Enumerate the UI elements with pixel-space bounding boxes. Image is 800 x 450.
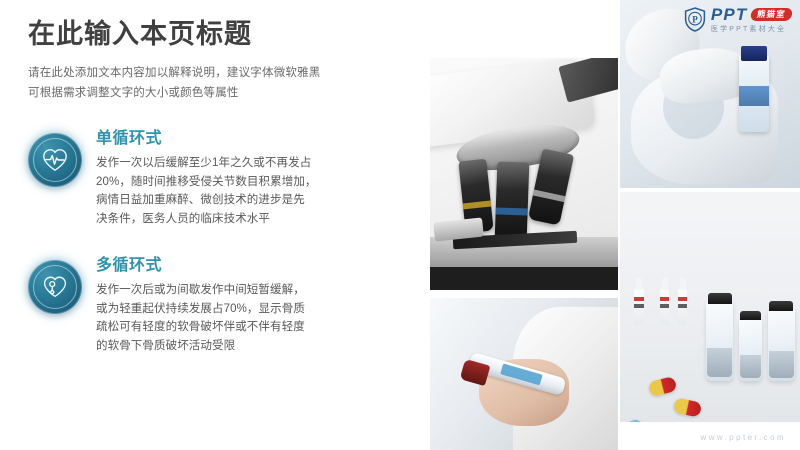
subtitle-line-2: 可根据需求调整文字的大小或颜色等属性 [28,83,398,103]
logo-brand: PPT [711,6,748,23]
svg-text:P: P [692,14,698,24]
logo-tag: 熊猫室 [750,8,793,21]
subtitle-line-1: 请在此处添加文本内容加以解释说明，建议字体微软雅黑 [28,63,398,83]
bullet-item-2[interactable]: 多循环式 发作一次后或为间歇发作中间短暂缓解， 或为轻重起伏持续发展占70%，显… [28,256,398,356]
text-column: 在此输入本页标题 请在此处添加文本内容加以解释说明，建议字体微软雅黑 可根据需求… [0,0,420,450]
logo-subtitle: 医学PPT素材大全 [711,26,792,33]
bullet-2-line-3: 疏松可有轻度的软骨破坏伴或不伴有轻度 [96,318,305,337]
heart-stethoscope-icon [42,274,68,300]
test-tube-photo [430,298,618,450]
bullet-badge-2 [28,260,82,314]
bullet-1-line-1: 发作一次以后缓解至少1年之久或不再发占 [96,154,317,173]
bullet-body-1: 单循环式 发作一次以后缓解至少1年之久或不再发占 20%，随时间推移受侵关节数目… [96,129,317,229]
bullet-1-line-2: 20%，随时间推移受侵关节数目积累增加， [96,173,317,192]
bullet-2-line-1: 发作一次后或为间歇发作中间短暂缓解， [96,281,305,300]
bullet-badge-1 [28,133,82,187]
bullet-title-1: 单循环式 [96,129,317,148]
bullet-title-2: 多循环式 [96,256,305,275]
bullet-1-line-3: 病情日益加重麻醉、微创技术的进步是先 [96,191,317,210]
bullet-1-line-4: 决条件，医务人员的临床技术水平 [96,210,317,229]
photo-grid [420,0,800,450]
page-title: 在此输入本页标题 [28,18,398,52]
shield-p-icon: P [684,7,706,32]
bullet-text-2: 发作一次后或为间歇发作中间短暂缓解， 或为轻重起伏持续发展占70%，显示骨质 疏… [96,281,305,356]
heart-pulse-icon [42,147,68,173]
bullet-2-line-4: 的软骨下骨质破坏活动受限 [96,337,305,356]
ampoules-photo [620,192,800,422]
logo-texts: PPT 熊猫室 医学PPT素材大全 [711,6,792,33]
slide-canvas: 在此输入本页标题 请在此处添加文本内容加以解释说明，建议字体微软雅黑 可根据需求… [0,0,800,450]
bullet-2-line-2: 或为轻重起伏持续发展占70%，显示骨质 [96,300,305,319]
bullet-text-1: 发作一次以后缓解至少1年之久或不再发占 20%，随时间推移受侵关节数目积累增加，… [96,154,317,229]
bullet-body-2: 多循环式 发作一次后或为间歇发作中间短暂缓解， 或为轻重起伏持续发展占70%，显… [96,256,305,356]
logo-row-primary: PPT 熊猫室 [711,6,792,23]
page-subtitle: 请在此处添加文本内容加以解释说明，建议字体微软雅黑 可根据需求调整文字的大小或颜… [28,63,398,103]
microscope-photo [430,58,618,290]
watermark: www.ppter.com [701,433,786,442]
brand-logo[interactable]: P PPT 熊猫室 医学PPT素材大全 [684,6,792,33]
bullet-item-1[interactable]: 单循环式 发作一次以后缓解至少1年之久或不再发占 20%，随时间推移受侵关节数目… [28,129,398,229]
bullet-list: 单循环式 发作一次以后缓解至少1年之久或不再发占 20%，随时间推移受侵关节数目… [28,129,398,355]
